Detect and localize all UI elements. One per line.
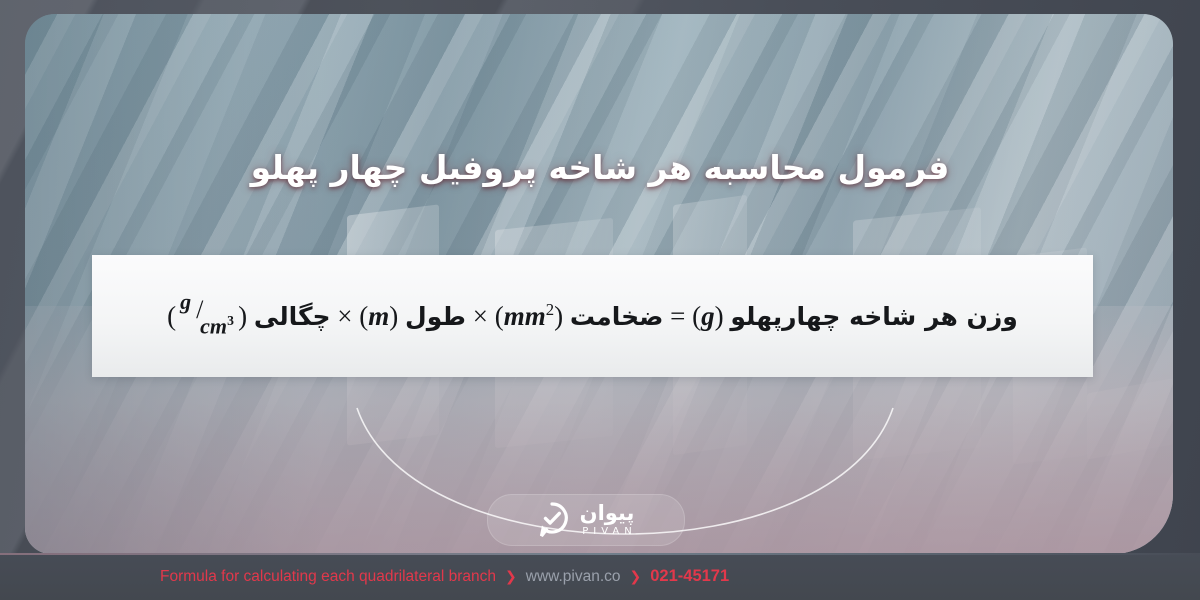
formula-term3-label: چگالی [254,302,331,331]
footer-content: Formula for calculating each quadrilater… [160,553,729,600]
banner-root: فرمول محاسبه هر شاخه پروفیل چهار پهلو وز… [0,0,1200,600]
formula-times-2: × [337,301,352,331]
formula-times-1: × [473,301,488,331]
logo-name-en: PIVAN [577,527,637,537]
chevron-right-icon: ❯ [505,569,517,585]
page-title: فرمول محاسبه هر شاخه پروفیل چهار پهلو [0,148,1200,187]
formula-term3-unit: (g/cm3) [167,301,247,331]
formula-equals: = [670,301,685,331]
formula-box: وزن هر شاخه چهارپهلو (g) = ضخامت (mm2) ×… [92,255,1093,377]
footer-phone-number[interactable]: 021-45171 [650,567,729,586]
logo-pill[interactable]: پیوان PIVAN [487,494,685,546]
check-badge-icon [535,502,569,538]
formula-result-label: وزن هر شاخه چهارپهلو [730,302,1018,331]
footer-website-link[interactable]: www.pivan.co [526,568,621,586]
formula-term1-label: ضخامت [570,302,664,331]
formula-term2-label: طول [405,302,466,331]
logo-wordmark: پیوان PIVAN [577,503,637,537]
chevron-right-icon: ❯ [630,569,642,585]
footer-bar: Formula for calculating each quadrilater… [0,553,1200,600]
formula-expression: وزن هر شاخه چهارپهلو (g) = ضخامت (mm2) ×… [167,300,1018,332]
footer-caption: Formula for calculating each quadrilater… [160,568,496,586]
formula-term1-unit: (mm2) [495,301,563,331]
formula-result-unit: (g) [692,301,724,331]
logo-name-fa: پیوان [580,503,635,524]
formula-term2-unit: (m) [359,301,398,331]
